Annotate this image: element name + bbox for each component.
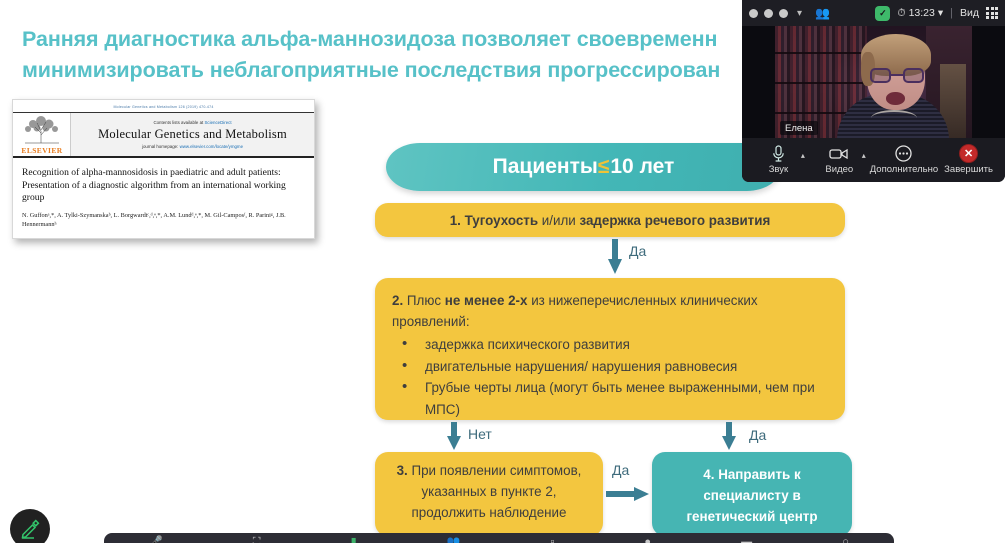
toolbar-camera-icon[interactable]: ⛶ — [253, 537, 261, 543]
video-button-label: Видео — [825, 164, 853, 175]
participant-glasses — [870, 68, 924, 83]
more-button[interactable]: Дополнительно — [870, 145, 938, 175]
flow-box-2: 2. Плюс не менее 2-х из нижеперечисленны… — [375, 278, 845, 420]
participant-mouth — [886, 92, 905, 105]
audio-chevron-up-icon[interactable]: ▴ — [801, 151, 805, 160]
box2-lead-bold: не менее 2-х — [445, 293, 528, 308]
video-call-toolbar: Звук ▴ Видео ▴ — [742, 138, 1005, 182]
microphone-icon — [772, 145, 785, 162]
window-control-maximize[interactable] — [779, 9, 788, 18]
toolbar-microphone-icon[interactable]: 🎤 — [149, 537, 163, 543]
video-button[interactable]: Видео ▴ — [809, 145, 870, 175]
toolbar-share-screen-icon[interactable]: ▮ — [351, 537, 357, 543]
participants-icon[interactable]: 👥 — [815, 6, 830, 20]
flowchart-header-pill: Пациенты ≤10 лет — [386, 143, 781, 191]
meeting-timer[interactable]: ⏱ 13:23 ▾ — [897, 7, 943, 20]
box2-lead: 2. Плюс не менее 2-х из нижеперечисленны… — [392, 290, 828, 332]
end-call-button[interactable]: ✕ Завершить — [938, 145, 999, 175]
box2-number: 2. — [392, 293, 407, 308]
presentation-screen-share: Ранняя диагностика альфа-маннозидоза поз… — [0, 0, 1005, 543]
flowchart-header-prefix: Пациенты — [493, 155, 598, 179]
box2-bullet-1: двигательные нарушения/ нарушения равнов… — [392, 356, 828, 378]
toolbar-more-icon[interactable]: ○ — [842, 537, 849, 543]
toolbar-chat-icon[interactable]: ▫ — [550, 537, 554, 543]
shelf-line-2 — [775, 82, 867, 84]
box3-number: 3. — [397, 463, 412, 478]
flow-box-1: 1. Тугоухость и/или задержка речевого ра… — [375, 203, 845, 237]
pencil-icon — [20, 519, 40, 539]
arrow-box1-to-box2 — [608, 239, 622, 276]
audio-button-label: Звук — [769, 164, 788, 175]
audio-button[interactable]: Звук ▴ — [748, 145, 809, 175]
box2-bullet-0: задержка психического развития — [392, 334, 828, 356]
flow-box-3: 3. При появлении симптомов, указанных в … — [375, 452, 603, 536]
arrow-label-3: Да — [749, 427, 766, 443]
shelf-line-1 — [775, 52, 867, 54]
arrow-label-2: Нет — [468, 426, 492, 442]
arrow-box3-to-box4 — [606, 486, 650, 502]
video-chevron-up-icon[interactable]: ▴ — [862, 151, 866, 160]
view-label[interactable]: Вид — [960, 7, 979, 19]
arrow-box2-to-box3 — [447, 422, 461, 451]
chevron-down-icon[interactable]: ▾ — [797, 8, 802, 19]
box2-bullet-list: задержка психического развития двигатель… — [392, 334, 828, 420]
video-stage[interactable]: Елена — [742, 26, 1005, 138]
arrow-label-4: Да — [612, 462, 629, 478]
participant-name-label: Елена — [780, 121, 818, 135]
grid-icon[interactable] — [986, 7, 998, 19]
end-call-icon: ✕ — [959, 145, 978, 162]
box1-bold-a: Тугоухость — [465, 213, 538, 228]
less-equal-symbol: ≤ — [598, 155, 611, 179]
more-dots-icon — [895, 145, 912, 162]
flow-box-4: 4. Направить к специалисту в генетически… — [652, 452, 852, 536]
arrow-label-1: Да — [629, 243, 646, 259]
window-control-close[interactable] — [749, 9, 758, 18]
box3-text: При появлении симптомов, указанных в пун… — [411, 463, 581, 520]
box2-lead-a: Плюс — [407, 293, 445, 308]
flowchart-header-suffix: 10 лет — [610, 155, 674, 179]
toolbar-record-icon[interactable]: ● — [644, 537, 651, 543]
video-conference-panel: ▾ 👥 ✓ ⏱ 13:23 ▾ | Вид — [742, 0, 1005, 182]
clock-icon: ⏱ — [897, 7, 905, 20]
box2-bullet-2: Грубые черты лица (могут быть менее выра… — [392, 377, 828, 420]
arrow-box2-to-box4 — [722, 422, 736, 451]
participant-collar — [871, 110, 917, 126]
meeting-bottom-toolbar[interactable]: 🎤 ⛶ ▮ 👥 ▫ ● ▬ ○ — [104, 533, 894, 543]
window-control-minimize[interactable] — [764, 9, 773, 18]
timer-chevron-icon[interactable]: ▾ — [938, 7, 943, 19]
video-panel-topbar: ▾ 👥 ✓ ⏱ 13:23 ▾ | Вид — [742, 0, 1005, 26]
box1-regular: и/или — [538, 213, 579, 228]
annotate-pen-button[interactable] — [10, 509, 50, 543]
more-button-label: Дополнительно — [870, 164, 938, 175]
end-call-button-label: Завершить — [944, 164, 993, 175]
toolbar-reactions-icon[interactable]: ▬ — [741, 537, 752, 543]
window-controls[interactable] — [749, 9, 788, 18]
box1-number: 1. — [450, 213, 465, 228]
toolbar-participants-icon[interactable]: 👥 — [447, 537, 461, 543]
camera-icon — [829, 145, 849, 162]
box4-number: 4. — [703, 467, 718, 482]
shield-icon[interactable]: ✓ — [875, 6, 890, 21]
topbar-divider: | — [950, 7, 953, 19]
meeting-time: 13:23 — [909, 7, 935, 19]
box1-bold-b: задержка речевого развития — [579, 213, 770, 228]
